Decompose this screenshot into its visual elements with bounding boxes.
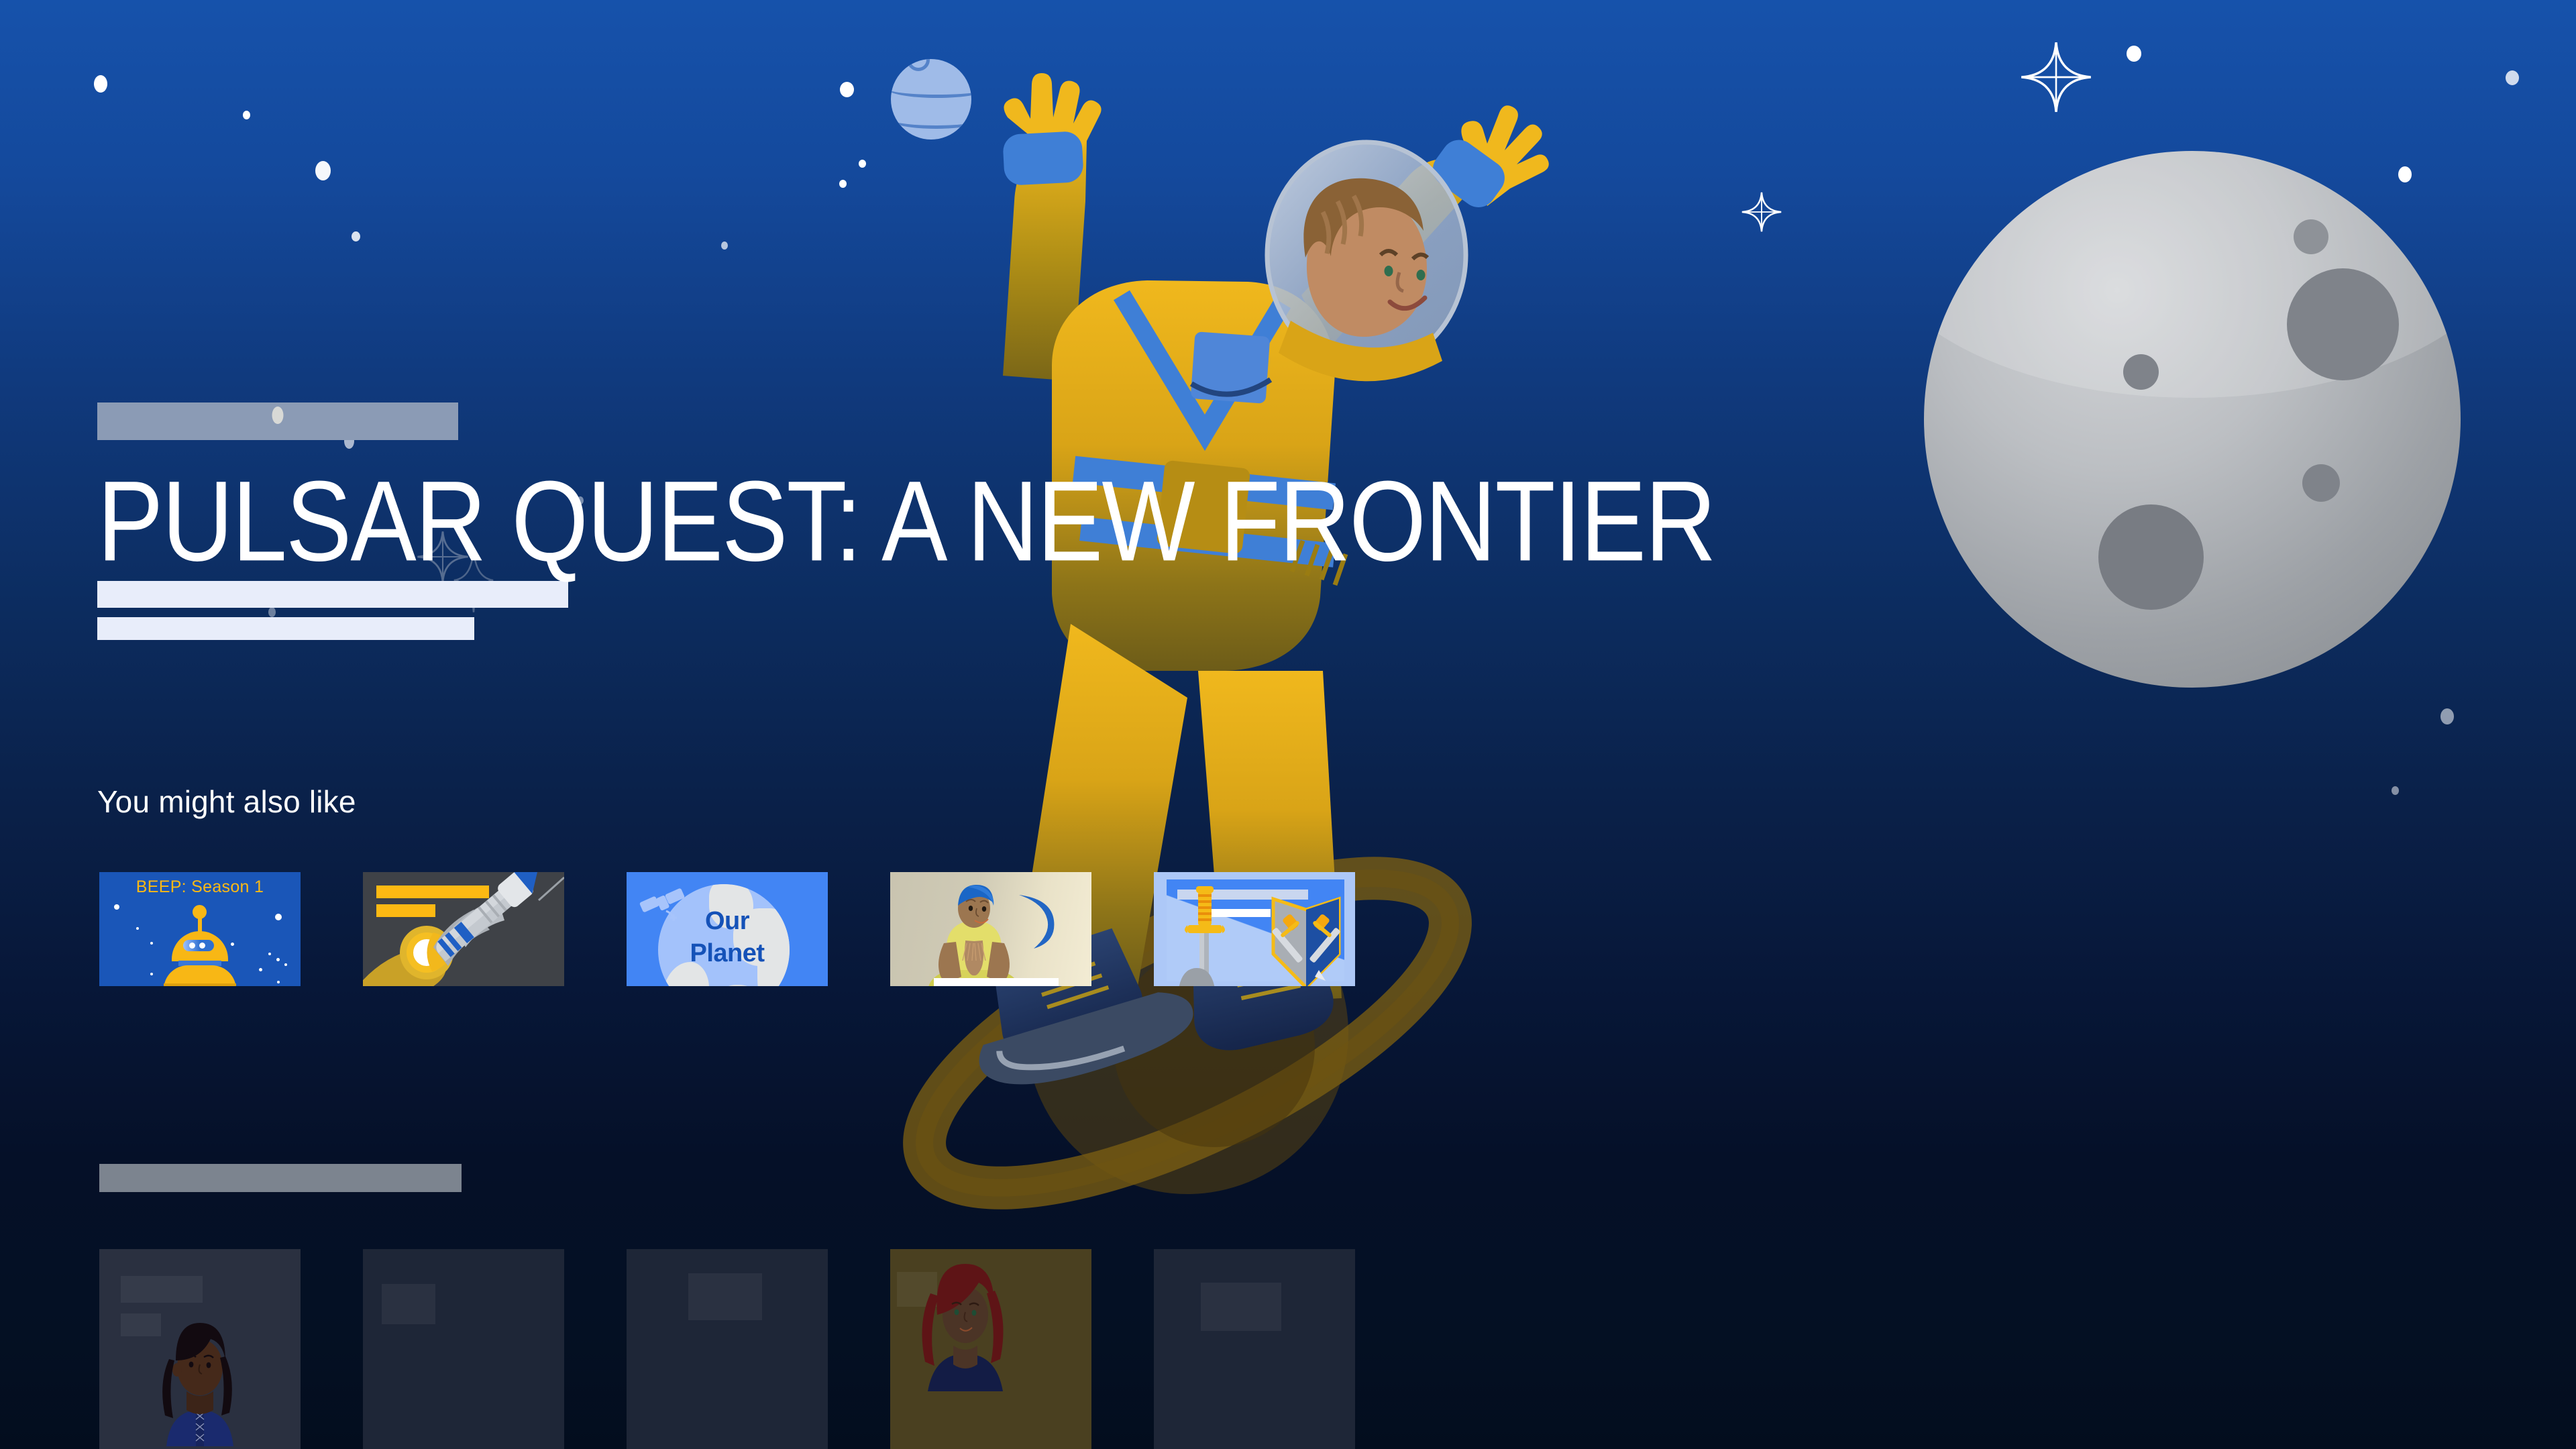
card-meditation[interactable] bbox=[890, 872, 1091, 986]
recommendations-row: BEEP: Season 1 bbox=[99, 872, 1355, 986]
card-row2-4[interactable] bbox=[890, 1249, 1091, 1449]
rocket-icon bbox=[363, 872, 564, 986]
hero-text-block: PULSAR QUEST: A NEW FRONTIER bbox=[97, 402, 2043, 640]
page-title: PULSAR QUEST: A NEW FRONTIER bbox=[97, 464, 1984, 578]
hero-stage: PULSAR QUEST: A NEW FRONTIER You might a… bbox=[0, 0, 2576, 1449]
row-label-you-might-also-like: You might also like bbox=[97, 784, 356, 820]
card-title-line-2: Planet bbox=[627, 939, 828, 968]
shield-crossed-swords-icon bbox=[1269, 890, 1343, 986]
card-rocket-launch[interactable] bbox=[363, 872, 564, 986]
sparkle-star-icon bbox=[2019, 40, 2093, 114]
card-title: BEEP: Season 1 bbox=[99, 877, 301, 897]
card-our-planet[interactable]: Our Planet bbox=[627, 872, 828, 986]
row-label-placeholder-bar bbox=[99, 1164, 462, 1192]
person-meditating-icon bbox=[924, 881, 1024, 986]
card-row2-5[interactable] bbox=[1154, 1249, 1355, 1449]
card-sword-shield[interactable] bbox=[1154, 872, 1355, 986]
card-row2-1[interactable] bbox=[99, 1249, 301, 1449]
hero-subtitle-placeholder-2 bbox=[97, 617, 474, 640]
woman-red-hair-icon bbox=[905, 1257, 1026, 1391]
recommendations-row-2 bbox=[99, 1249, 1355, 1449]
card-row2-3[interactable] bbox=[627, 1249, 828, 1449]
woman-dark-hair-icon bbox=[140, 1319, 260, 1446]
card-row2-2[interactable] bbox=[363, 1249, 564, 1449]
sword-in-stone-icon bbox=[1171, 879, 1238, 986]
kicker-dot-icon bbox=[272, 407, 284, 424]
card-title-line-1: Our bbox=[627, 907, 828, 936]
card-beep-season-1[interactable]: BEEP: Season 1 bbox=[99, 872, 301, 986]
card-placeholder-bar bbox=[934, 978, 1059, 986]
hero-kicker-placeholder bbox=[97, 402, 458, 440]
